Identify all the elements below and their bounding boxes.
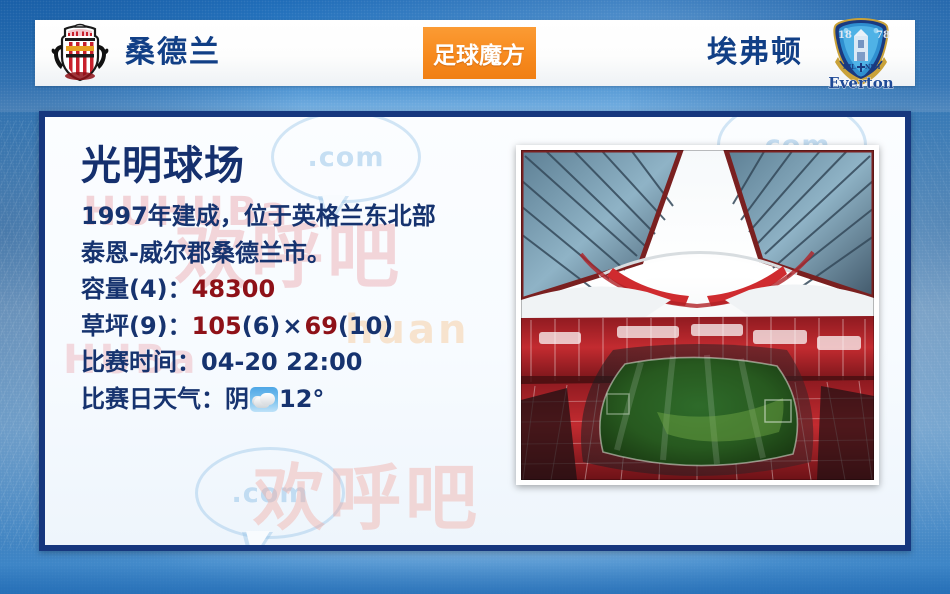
- pitch-multiply-sign: ×: [280, 312, 304, 340]
- stadium-description-line-2: 泰恩-威尔郡桑德兰市。: [81, 235, 501, 271]
- weather-label: 比赛日天气：: [81, 385, 225, 413]
- away-team-name: 埃弗顿: [707, 38, 803, 68]
- pitch-length-rank: (6): [242, 312, 281, 340]
- svg-text:NIL: NIL: [843, 64, 856, 71]
- weather-condition: 阴: [225, 385, 249, 413]
- svg-text:Everton: Everton: [828, 74, 894, 90]
- stadium-info-block: 光明球场 1997年建成，位于英格兰东北部 泰恩-威尔郡桑德兰市。 容量(4)：…: [81, 145, 501, 417]
- site-logo[interactable]: 足球魔方: [423, 27, 536, 79]
- pitch-length-value: 105: [192, 312, 242, 340]
- match-header-bar: 桑德兰 足球魔方 埃弗顿 18 78: [35, 20, 915, 86]
- home-team-block[interactable]: 桑德兰: [35, 20, 404, 86]
- match-time-row: 比赛时间：04-20 22:00: [81, 344, 501, 380]
- away-team-block[interactable]: 埃弗顿 18 78 NIL NISI: [554, 20, 915, 86]
- svg-text:18: 18: [838, 30, 852, 41]
- pitch-label: 草坪(9)：: [81, 312, 192, 340]
- weather-temperature: 12°: [279, 385, 324, 413]
- stadium-pitch-row: 草坪(9)：105(6)×69(10): [81, 308, 501, 344]
- stadium-photo-frame[interactable]: [516, 145, 879, 485]
- match-weather-row: 比赛日天气：阴12°: [81, 381, 501, 417]
- stadium-title: 光明球场: [81, 145, 501, 188]
- sunderland-crest-icon: [49, 23, 111, 83]
- home-team-name: 桑德兰: [125, 38, 221, 68]
- svg-text:NISI: NISI: [865, 64, 881, 71]
- watermark-bubble-bottom: .com: [195, 447, 345, 539]
- stadium-capacity-row: 容量(4)：48300: [81, 271, 501, 307]
- stadium-info-card: .com .com .com HUHUBa 欢呼吧 huan HUBa 欢呼吧 …: [39, 111, 911, 551]
- site-logo-block[interactable]: 足球魔方: [404, 20, 554, 86]
- match-stadium-card-page: 桑德兰 足球魔方 埃弗顿 18 78: [0, 0, 950, 594]
- svg-text:78: 78: [876, 30, 890, 41]
- capacity-label: 容量(4)：: [81, 275, 192, 303]
- match-time-value: 04-20 22:00: [201, 348, 363, 376]
- stadium-interior-photo[interactable]: [521, 150, 874, 480]
- pitch-width-value: 69: [305, 312, 338, 340]
- match-time-label: 比赛时间：: [81, 348, 201, 376]
- cloudy-weather-icon: [250, 387, 278, 412]
- pitch-width-rank: (10): [338, 312, 393, 340]
- watermark-brand-big-2: 欢呼吧: [253, 439, 481, 544]
- stadium-description-line-1: 1997年建成，位于英格兰东北部: [81, 198, 501, 234]
- everton-crest-icon: 18 78 NIL NISI Everton: [813, 16, 909, 90]
- capacity-value: 48300: [192, 275, 276, 303]
